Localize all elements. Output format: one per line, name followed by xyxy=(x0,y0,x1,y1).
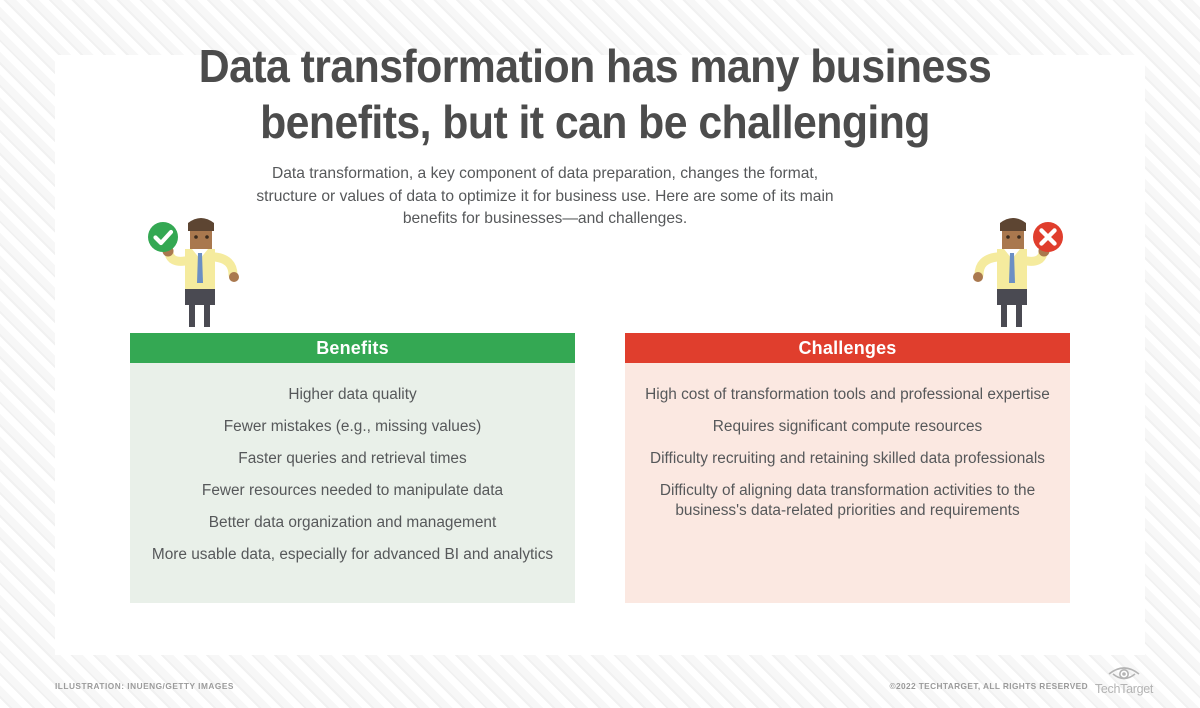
copyright-text: ©2022 TECHTARGET, ALL RIGHTS RESERVED xyxy=(889,681,1088,691)
illustration-person-with-check xyxy=(140,215,258,327)
illustration-person-with-x xyxy=(952,215,1070,327)
list-item: Fewer mistakes (e.g., missing values) xyxy=(148,417,557,437)
panel-benefits-list: Higher data quality Fewer mistakes (e.g.… xyxy=(130,363,575,603)
panel-benefits-heading: Benefits xyxy=(130,333,575,363)
panel-challenges-list: High cost of transformation tools and pr… xyxy=(625,363,1070,603)
list-item: Fewer resources needed to manipulate dat… xyxy=(148,481,557,501)
list-item: Difficulty recruiting and retaining skil… xyxy=(643,449,1052,469)
page-title: Data transformation has many business be… xyxy=(149,38,1042,150)
panel-challenges: Challenges High cost of transformation t… xyxy=(625,333,1070,603)
list-item: Faster queries and retrieval times xyxy=(148,449,557,469)
list-item: Difficulty of aligning data transformati… xyxy=(643,481,1052,521)
illustration-credit: ILLUSTRATION: INUENG/GETTY IMAGES xyxy=(55,681,234,691)
subtitle-text: Data transformation, a key component of … xyxy=(245,163,845,231)
eye-icon xyxy=(1093,662,1155,682)
panel-benefits: Benefits Higher data quality Fewer mista… xyxy=(130,333,575,603)
list-item: More usable data, especially for advance… xyxy=(148,545,557,565)
list-item: Better data organization and management xyxy=(148,513,557,533)
panel-challenges-heading: Challenges xyxy=(625,333,1070,363)
list-item: Higher data quality xyxy=(148,385,557,405)
list-item: Requires significant compute resources xyxy=(643,417,1052,437)
check-circle-icon xyxy=(148,222,178,252)
list-item: High cost of transformation tools and pr… xyxy=(643,385,1052,405)
techtarget-wordmark: TechTarget xyxy=(1093,682,1155,696)
techtarget-logo: TechTarget xyxy=(1093,662,1155,696)
